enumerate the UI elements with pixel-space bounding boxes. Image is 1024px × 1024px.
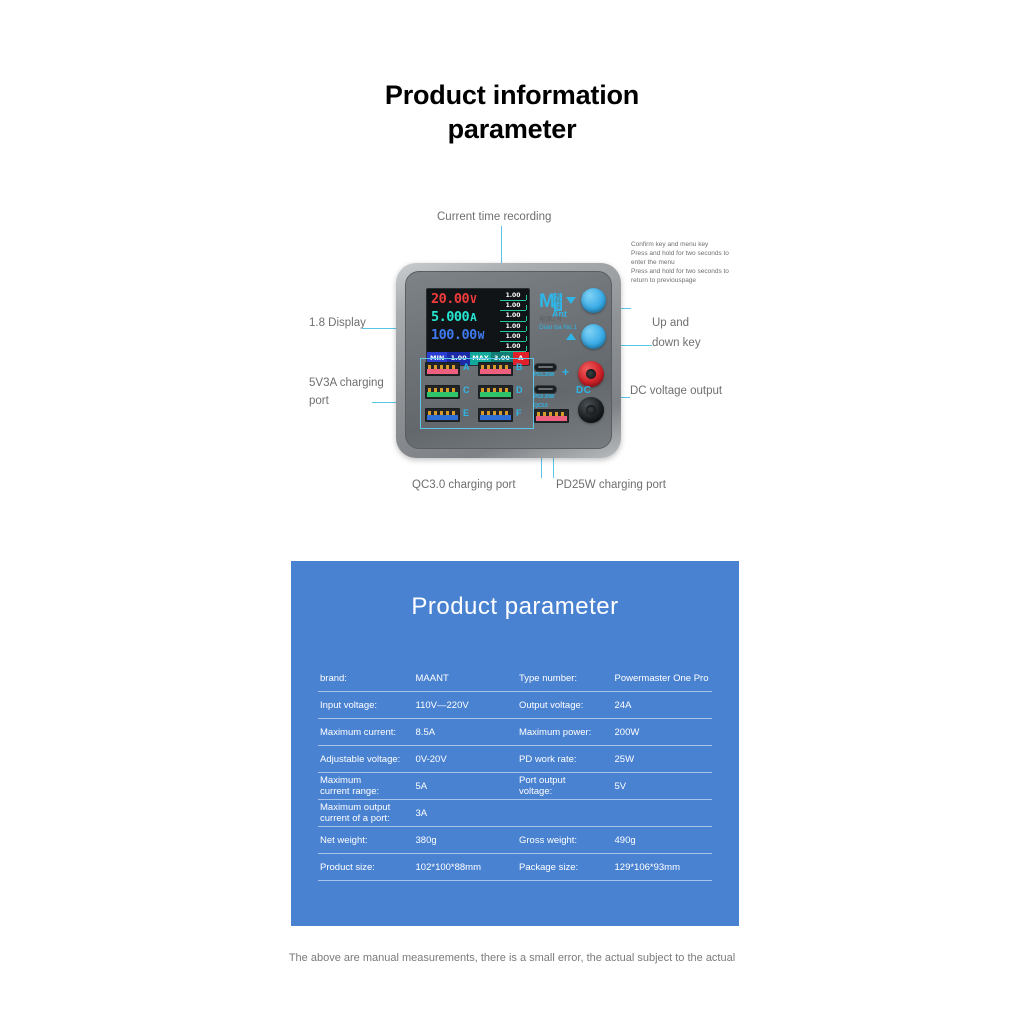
param-key: Maximum current: (318, 727, 416, 738)
table-row: Maximum output current of a port: 3A (318, 800, 712, 827)
dc-negative-terminal[interactable] (578, 397, 604, 423)
param-key: Net weight: (318, 835, 416, 846)
param-value: 490g (615, 835, 713, 846)
usb-port-f-label: F (516, 408, 522, 418)
usb-port-e[interactable] (425, 408, 460, 422)
usb-port-a-label: A (463, 362, 470, 372)
lcd-tick: 1.00 (500, 301, 526, 311)
param-value: 5V (615, 781, 713, 792)
param-key: Product size: (318, 862, 416, 873)
voltage-unit: V (470, 293, 476, 306)
usb-port-b[interactable] (478, 362, 513, 376)
down-key-button[interactable] (581, 324, 606, 349)
param-key: Maximum power: (519, 727, 615, 738)
brand-logo: M 麦科技 a Ant x (539, 292, 554, 311)
param-key: Port output voltage: (519, 775, 615, 797)
dc-label: DC (576, 385, 591, 396)
usb-port-d[interactable] (478, 385, 513, 399)
device-lcd-screen: 20.00V 5.000A 100.00W 1.00 1.00 1.00 1.0… (426, 288, 530, 366)
current-readout: 5.000A (431, 309, 476, 325)
qc30-usb-port[interactable] (534, 409, 569, 423)
param-value: MAANT (416, 673, 519, 684)
param-value: 24A (615, 700, 713, 711)
callout-5v3a-port-line2: port (309, 394, 329, 409)
page-title-line2: parameter (0, 112, 1024, 146)
current-value: 5.000 (431, 309, 469, 325)
param-value: 380g (416, 835, 519, 846)
lcd-tick-scale: 1.00 1.00 1.00 1.00 1.00 1.00 (500, 291, 526, 352)
product-parameter-panel: Product parameter brand: MAANT Type numb… (291, 561, 739, 926)
param-value: 200W (615, 727, 713, 738)
param-key: Maximum current range: (318, 775, 416, 797)
footnote-disclaimer: The above are manual measurements, there… (0, 952, 1024, 964)
table-row: Adjustable voltage: 0V-20V PD work rate:… (318, 746, 712, 773)
param-value: 3A (416, 808, 519, 819)
param-key: Output voltage: (519, 700, 615, 711)
pd1-type-c-port[interactable] (534, 363, 557, 372)
param-value: 0V-20V (416, 754, 519, 765)
callout-dc-voltage-output: DC voltage output (630, 384, 722, 399)
param-key: PD work rate: (519, 754, 615, 765)
page-title: Product information parameter (0, 78, 1024, 146)
callout-updown-key-line2: down key (652, 336, 701, 351)
param-value: 102*100*88mm (416, 862, 519, 873)
callout-current-time-recording: Current time recording (437, 210, 551, 225)
table-row: Maximum current: 8.5A Maximum power: 200… (318, 719, 712, 746)
callout-confirm-key: Confirm key and menu key Press and hold … (631, 240, 743, 285)
usb-port-a[interactable] (425, 362, 460, 376)
lcd-tick: 1.00 (500, 342, 526, 352)
pd2-port-label: PD2:20W (534, 394, 554, 400)
voltage-value: 20.00 (431, 291, 469, 307)
device-front-face: 20.00V 5.000A 100.00W 1.00 1.00 1.00 1.0… (405, 271, 612, 449)
callout-updown-key-line1: Up and (652, 316, 689, 331)
param-value: Powermaster One Pro (615, 673, 713, 684)
lcd-tick: 1.00 (500, 332, 526, 342)
lcd-readout-area: 20.00V 5.000A 100.00W 1.00 1.00 1.00 1.0… (427, 289, 529, 349)
callout-qc30-port: QC3.0 charging port (412, 478, 516, 493)
lcd-tick: 1.00 (500, 291, 526, 301)
brand-subtitle-chinese: 电源1号 (539, 316, 577, 324)
param-key: Gross weight: (519, 835, 615, 846)
power-readout: 100.00W (431, 327, 484, 343)
usb-port-f[interactable] (478, 408, 513, 422)
param-key: Adjustable voltage: (318, 754, 416, 765)
current-unit: A (470, 311, 476, 324)
param-key: Maximum output current of a port: (318, 802, 416, 824)
usb-port-b-label: B (516, 362, 523, 372)
lcd-tick: 1.00 (500, 322, 526, 332)
lcd-tick: 1.00 (500, 311, 526, 321)
param-value: 5A (416, 781, 519, 792)
callout-confirm-key-text: Confirm key and menu key Press and hold … (631, 241, 729, 284)
chevron-up-icon (566, 333, 576, 340)
table-row: Input voltage: 110V—220V Output voltage:… (318, 692, 712, 719)
chevron-down-icon (566, 297, 576, 304)
pd1-port-label: PD1:25W (534, 372, 554, 378)
usb-port-c-label: C (463, 385, 470, 395)
up-key-button[interactable] (581, 288, 606, 313)
page-title-line1: Product information (0, 78, 1024, 112)
callout-display: 1.8 Display (309, 316, 366, 331)
param-key: Package size: (519, 862, 615, 873)
power-value: 100.00 (431, 327, 477, 343)
brand-subtitle: 电源1号 Dian ba No.1 (539, 316, 577, 332)
table-row: Product size: 102*100*88mm Package size:… (318, 854, 712, 881)
voltage-readout: 20.00V (431, 291, 476, 307)
callout-pd25w-port: PD25W charging port (556, 478, 666, 493)
pd2-type-c-port[interactable] (534, 385, 557, 394)
param-key: Input voltage: (318, 700, 416, 711)
product-diagram: Current time recording Confirm key and m… (0, 190, 1024, 510)
usb-port-c[interactable] (425, 385, 460, 399)
param-key: brand: (318, 673, 416, 684)
table-row: Maximum current range: 5A Port output vo… (318, 773, 712, 800)
dc-plus-label: + (562, 365, 569, 379)
param-key: Type number: (519, 673, 615, 684)
table-row: brand: MAANT Type number: Powermaster On… (318, 665, 712, 692)
param-value: 8.5A (416, 727, 519, 738)
param-panel-title: Product parameter (291, 593, 739, 621)
power-unit: W (478, 329, 484, 342)
param-table: brand: MAANT Type number: Powermaster On… (318, 665, 712, 881)
brand-subtitle-pinyin: Dian ba No.1 (539, 324, 577, 332)
table-row: Net weight: 380g Gross weight: 490g (318, 827, 712, 854)
callout-5v3a-port-line1: 5V3A charging (309, 376, 384, 391)
param-value: 110V—220V (416, 700, 519, 711)
usb-port-d-label: D (516, 385, 523, 395)
param-value: 129*106*93mm (615, 862, 713, 873)
dc-positive-terminal[interactable] (578, 361, 604, 387)
usb-port-e-label: E (463, 408, 469, 418)
device-illustration: 20.00V 5.000A 100.00W 1.00 1.00 1.00 1.0… (396, 263, 621, 458)
param-value: 25W (615, 754, 713, 765)
